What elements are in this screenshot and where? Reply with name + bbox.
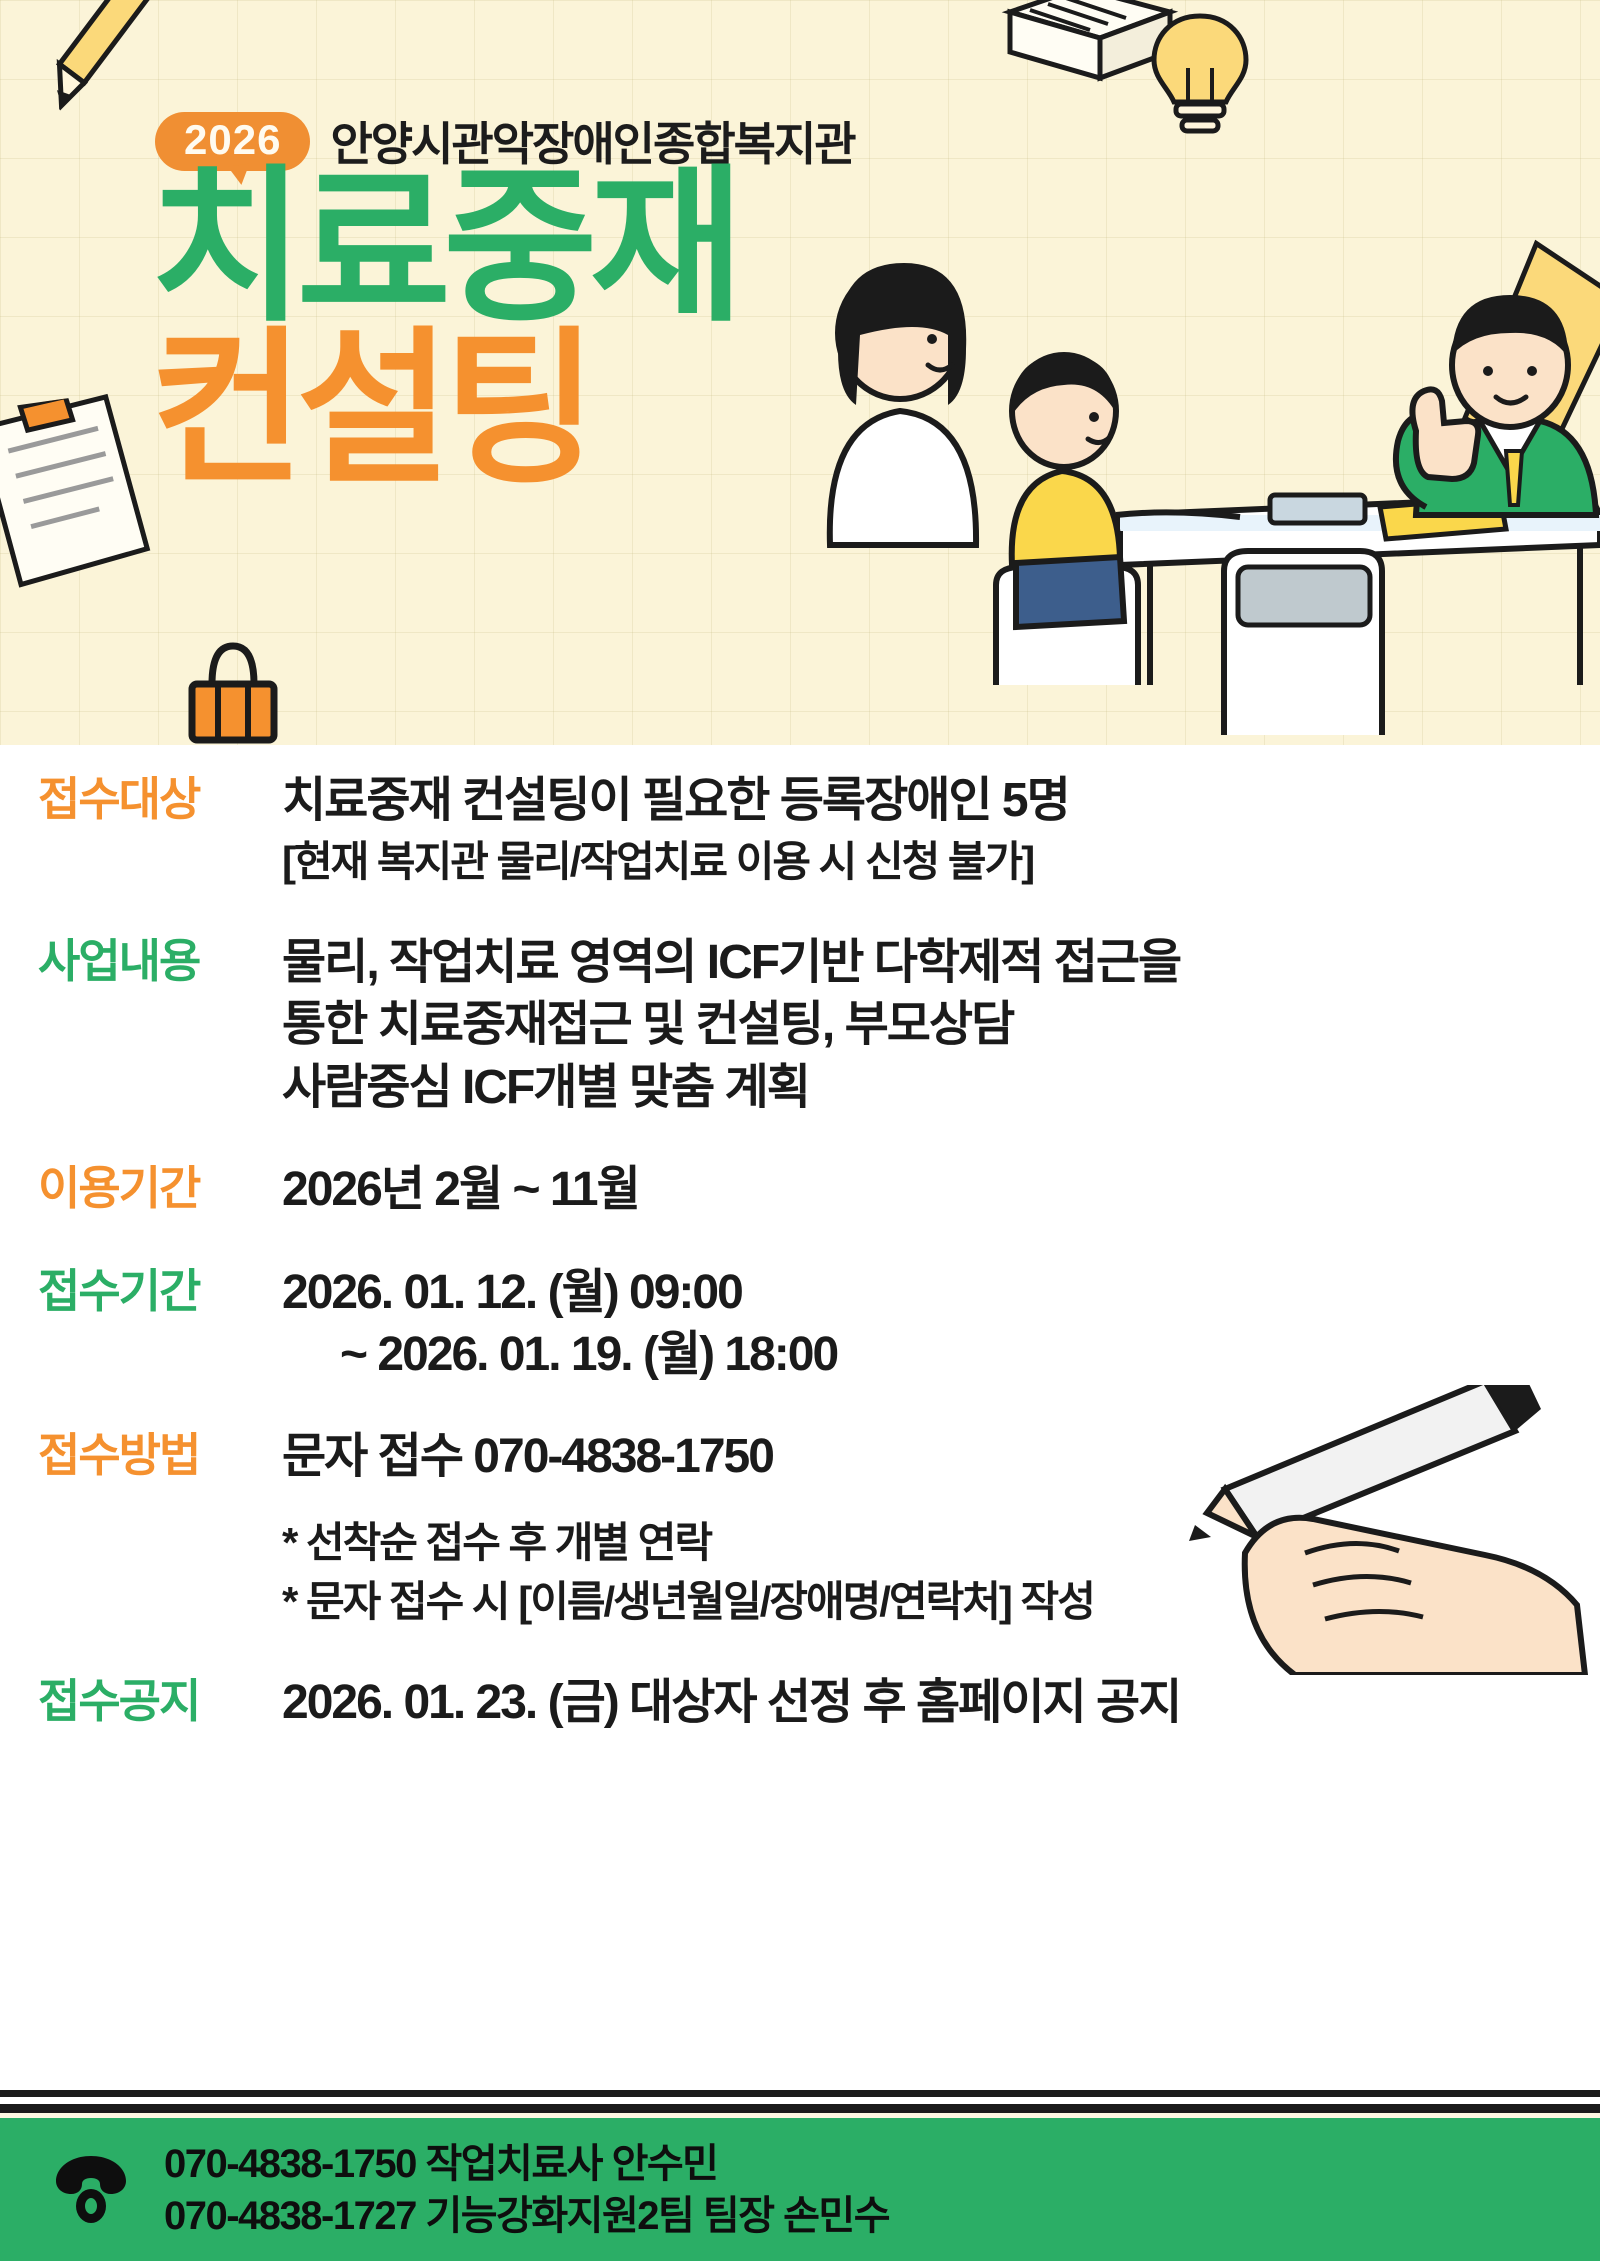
binder-clip-icon xyxy=(178,640,288,750)
section-sub-text: ~ 2026. 01. 19. (월) 18:00 xyxy=(282,1324,1600,1386)
section-row-service-period: 이용기간 2026년 2월 ~ 11월 xyxy=(0,1159,1600,1221)
section-main-text: 치료중재 컨설팅이 필요한 등록장애인 5명 xyxy=(282,770,1600,832)
footer-divider xyxy=(0,2090,1600,2113)
footer-contact-line-1: 070-4838-1750 작업치료사 안수민 xyxy=(164,2140,889,2188)
section-main-text: 2026. 01. 12. (월) 09:00 xyxy=(282,1262,1600,1324)
section-label: 접수기간 xyxy=(0,1262,282,1321)
section-row-result-notice: 접수공지 2026. 01. 23. (금) 대상자 선정 후 홈페이지 공지 xyxy=(0,1672,1600,1734)
section-label: 접수대상 xyxy=(0,770,282,829)
footer-contact-line-2: 070-4838-1727 기능강화지원2팀 팀장 손민수 xyxy=(164,2192,889,2240)
section-row-application-target: 접수대상 치료중재 컨설팅이 필요한 등록장애인 5명 [현재 복지관 물리/작… xyxy=(0,770,1600,892)
info-sections: 접수대상 치료중재 컨설팅이 필요한 등록장애인 5명 [현재 복지관 물리/작… xyxy=(0,770,1600,1740)
section-main-text: 물리, 작업치료 영역의 ICF기반 다학제적 접근을 xyxy=(282,932,1600,994)
section-main-text: 2026년 2월 ~ 11월 xyxy=(282,1159,1600,1221)
footer-bar: 070-4838-1750 작업치료사 안수민 070-4838-1727 기능… xyxy=(0,2118,1600,2261)
section-label: 접수방법 xyxy=(0,1426,282,1485)
section-value: 2026년 2월 ~ 11월 xyxy=(282,1159,1600,1221)
section-value: 2026. 01. 12. (월) 09:00 ~ 2026. 01. 19. … xyxy=(282,1262,1600,1387)
poster-title-line1: 치료중재 xyxy=(150,168,736,328)
section-sub-text: [현재 복지관 물리/작업치료 이용 시 신청 불가] xyxy=(282,832,1600,892)
section-value: 문자 접수 070-4838-1750 * 선착순 접수 후 개별 연락 * 문… xyxy=(282,1426,1600,1632)
section-note-2: * 문자 접수 시 [이름/생년월일/장애명/연락처] 작성 xyxy=(282,1572,1600,1632)
poster-root: 2026 안양시관악장애인종합복지관 치료중재 컨설팅 xyxy=(0,0,1600,2261)
section-main-text: 문자 접수 070-4838-1750 xyxy=(282,1426,1600,1488)
poster-title-line2: 컨설팅 xyxy=(150,330,590,490)
section-row-program-content: 사업내용 물리, 작업치료 영역의 ICF기반 다학제적 접근을 통한 치료중재… xyxy=(0,932,1600,1119)
divider-line-2 xyxy=(0,2104,1600,2113)
section-sub-text-2: 사람중심 ICF개별 맞춤 계획 xyxy=(282,1057,1600,1119)
consultation-illustration xyxy=(820,215,1600,735)
divider-line-1 xyxy=(0,2090,1600,2097)
section-value: 치료중재 컨설팅이 필요한 등록장애인 5명 [현재 복지관 물리/작업치료 이… xyxy=(282,770,1600,892)
section-sub-text: 통한 치료중재접근 및 컨설팅, 부모상담 xyxy=(282,994,1600,1056)
section-label: 이용기간 xyxy=(0,1159,282,1218)
section-row-application-method: 접수방법 문자 접수 070-4838-1750 * 선착순 접수 후 개별 연… xyxy=(0,1426,1600,1632)
section-value: 2026. 01. 23. (금) 대상자 선정 후 홈페이지 공지 xyxy=(282,1672,1600,1734)
section-label: 접수공지 xyxy=(0,1672,282,1731)
clipboard-icon xyxy=(0,388,168,617)
footer-contacts: 070-4838-1750 작업치료사 안수민 070-4838-1727 기능… xyxy=(164,2140,889,2240)
lightbulb-icon xyxy=(1140,6,1260,151)
section-note-1: * 선착순 접수 후 개별 연락 xyxy=(282,1513,1600,1573)
section-main-text: 2026. 01. 23. (금) 대상자 선정 후 홈페이지 공지 xyxy=(282,1672,1600,1734)
section-row-application-period: 접수기간 2026. 01. 12. (월) 09:00 ~ 2026. 01.… xyxy=(0,1262,1600,1387)
section-label: 사업내용 xyxy=(0,932,282,991)
telephone-icon xyxy=(52,2148,130,2231)
section-value: 물리, 작업치료 영역의 ICF기반 다학제적 접근을 통한 치료중재접근 및 … xyxy=(282,932,1600,1119)
